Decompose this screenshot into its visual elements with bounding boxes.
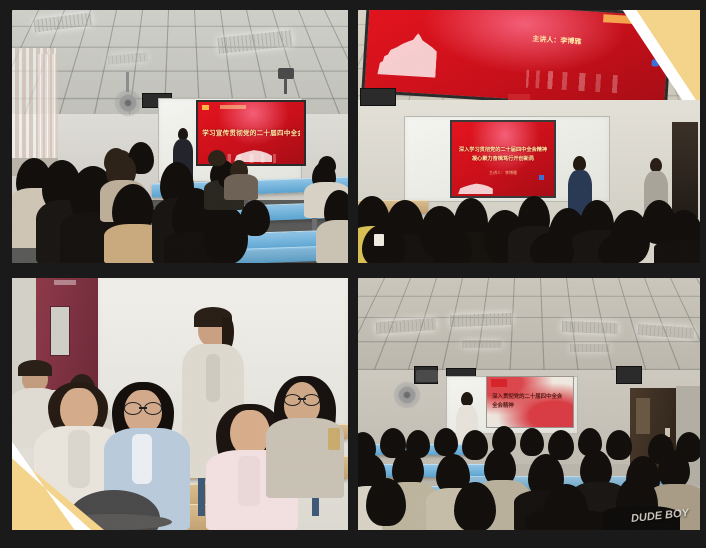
photo-bottom-left [12, 278, 348, 530]
photo-bottom-right: 深入贯彻党的二十届四中全会 全会精神 [358, 278, 700, 530]
photo-top-left: 学习宣传贯彻党的二十届四中全会精神 [12, 10, 348, 263]
photo-top-right: 主讲人：李博雅 深入学习贯彻党的二十届四中全会精神 凝心聚力奋楫笃行开 [358, 10, 700, 263]
photo-collage: 学习宣传贯彻党的二十届四中全会精神 [0, 0, 706, 548]
